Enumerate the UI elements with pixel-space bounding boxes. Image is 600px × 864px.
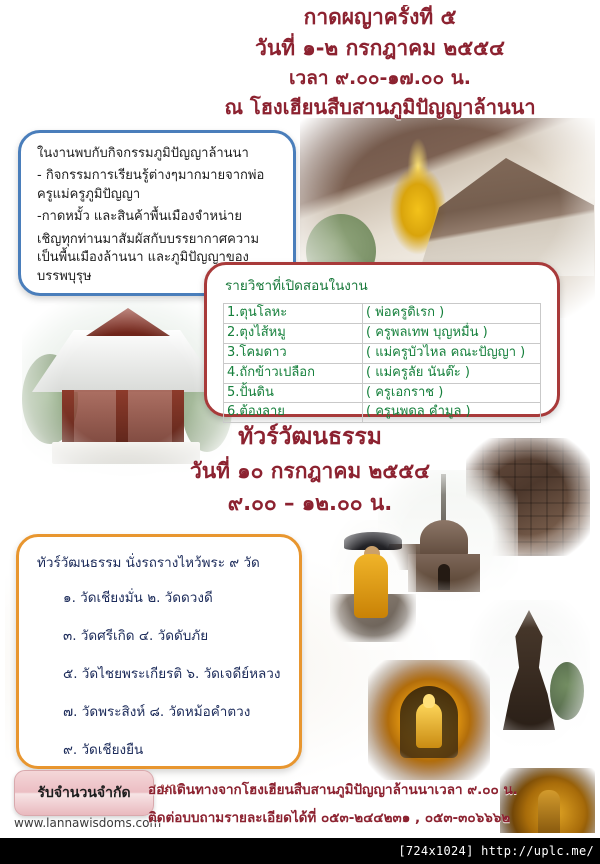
list-item: ๙. วัดเชียงยืน [63,738,287,760]
title-line-1: กาดผญาครั้งที่ ๕ [170,4,590,30]
table-row: 1.ตุนโลหะ ( พ่อครูดิเรก ) [224,304,541,324]
tour-line-2: วันที่ ๑๐ กรกฎาคม ๒๕๕๔ [160,459,460,484]
poster-title: กาดผญาครั้งที่ ๕ วันที่ ๑-๒ กรกฎาคม ๒๕๕๔… [170,4,590,125]
course-name: 5.ปั้นดิน [224,383,363,403]
monk-statue-photo [330,520,416,650]
course-name: 4.ถักข้าวเปลือก [224,363,363,383]
dark-prang-photo [470,600,590,752]
intro-line-1: ในงานพบกับกิจกรรมภูมิปัญญาล้านนา [37,145,279,163]
intro-line-3: -กาดหมั้ว และสินค้าพื้นเมืองจำหน่าย [37,208,279,226]
contact-info: ติดต่อบบถามรายละเอียดได้ที่ ๐๕๓-๒๔๔๒๓๑ ,… [148,806,510,828]
carved-brick-wall-photo [466,438,590,556]
course-name: 2.ตุงไส้หมู [224,323,363,343]
course-teacher: ( ครูนพดล คำมูล ) [363,403,541,423]
table-row: 5.ปั้นดิน ( ครูเอกราช ) [224,383,541,403]
course-name: 3.โคมดาว [224,343,363,363]
course-teacher: ( แม่ครูลัย นันต๊ะ ) [363,363,541,383]
list-item: ๑. วัดเชียงมั่น ๒. วัดดวงดี [63,586,287,608]
temples-heading: ทัวร์วัฒนธรรม นั่งรถรางไหว้พระ ๙ วัด [37,551,287,573]
image-viewer-bar: [724x1024] http://uplc.me/ [0,838,600,864]
courses-heading: รายวิชาที่เปิดสอนในงาน [225,274,545,296]
poster-canvas: กาดผญาครั้งที่ ๕ วันที่ ๑-๒ กรกฎาคม ๒๕๕๔… [0,0,600,838]
tour-line-1: ทัวร์วัฒนธรรม [160,424,460,452]
tour-heading: ทัวร์วัฒนธรรม วันที่ ๑๐ กรกฎาคม ๒๕๕๔ ๙.๐… [160,424,460,523]
course-name: 6.ต้องลาย [224,403,363,423]
course-teacher: ( ครูเอกราช ) [363,383,541,403]
course-teacher: ( แม่ครูบัวไหล คณะปัญญา ) [363,343,541,363]
course-teacher: ( ครูพลเทพ บุญหมื่น ) [363,323,541,343]
table-row: 2.ตุงไส้หมู ( ครูพลเทพ บุญหมื่น ) [224,323,541,343]
limited-seats-badge: รับจำนวนจำกัด [14,770,154,816]
list-item: ๓. วัดศรีเกิด ๔. วัดดับภัย [63,624,287,646]
course-teacher: ( พ่อครูดิเรก ) [363,304,541,324]
table-row: 6.ต้องลาย ( ครูนพดล คำมูล ) [224,403,541,423]
title-line-2: วันที่ ๑-๒ กรกฎาคม ๒๕๕๔ [170,35,590,61]
temples-box: ทัวร์วัฒนธรรม นั่งรถรางไหว้พระ ๙ วัด ๑. … [16,534,302,769]
golden-buddha-photo [368,660,490,780]
table-row: 3.โคมดาว ( แม่ครูบัวไหล คณะปัญญา ) [224,343,541,363]
courses-box: รายวิชาที่เปิดสอนในงาน 1.ตุนโลหะ ( พ่อคร… [204,262,560,417]
list-item: ๕. วัดไชยพระเกียรติ ๖. วัดเจดีย์หลวง [63,662,287,684]
departure-info: ออกเดินทางจากโฮงเฮียนสืบสานภูมิปัญญาล้าน… [148,778,518,800]
image-host-url: http://uplc.me/ [481,844,594,858]
course-name: 1.ตุนโลหะ [224,304,363,324]
list-item: ๗. วัดพระสิงห์ ๘. วัดหม้อคำตวง [63,700,287,722]
title-line-3: เวลา ๙.๐๐-๑๗.๐๐ น. [170,67,590,91]
title-line-4: ณ โฮงเฮียนสืบสานภูมิปัญญาล้านนา [170,95,590,120]
image-dimensions: [724x1024] [398,844,473,858]
tour-line-3: ๙.๐๐ – ๑๒.๐๐ น. [160,491,460,516]
table-row: 4.ถักข้าวเปลือก ( แม่ครูลัย นันต๊ะ ) [224,363,541,383]
courses-table: 1.ตุนโลหะ ( พ่อครูดิเรก ) 2.ตุงไส้หมู ( … [223,303,541,423]
intro-line-2: - กิจกรรมการเรียนรู้ต่างๆมากมายจากพ่อครู… [37,167,279,204]
